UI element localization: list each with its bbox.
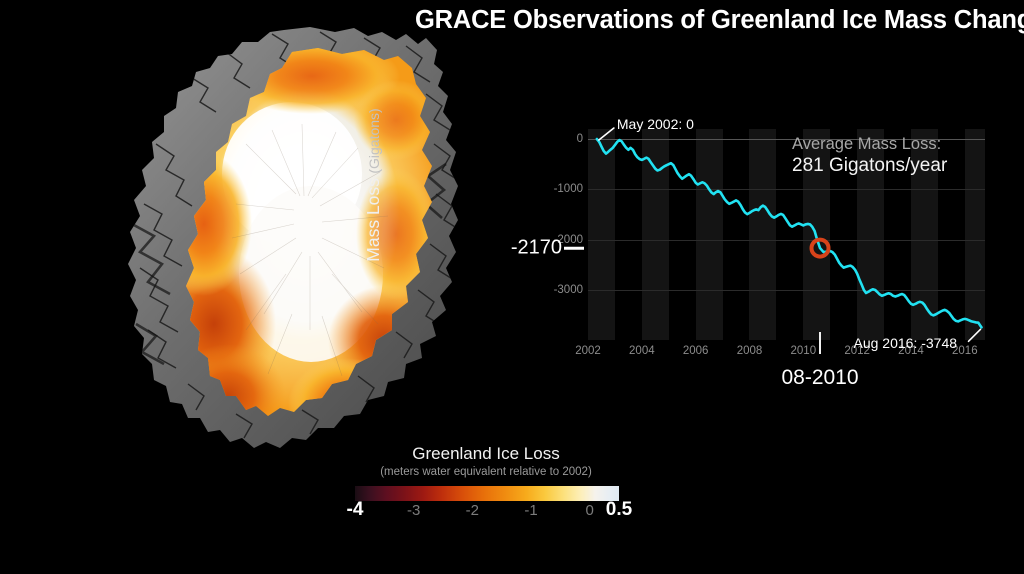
y-tick-label: -3000 <box>554 284 583 296</box>
legend-subtitle: (meters water equivalent relative to 200… <box>336 464 636 480</box>
average-mass-loss-value: 281 Gigatons/year <box>792 154 947 177</box>
x-tick-label: 2006 <box>683 345 709 357</box>
mass-loss-timeseries-chart: Mass Loss (Gigatons) 0-1000-2000-3000 20… <box>500 100 1024 390</box>
colorbar-gradient <box>355 486 619 501</box>
y-axis-title: Mass Loss (Gigatons) <box>363 80 383 290</box>
x-tick-label: 2010 <box>791 345 817 357</box>
colorbar-tick-label: -4 <box>333 499 377 521</box>
end-annotation-leader <box>969 329 981 341</box>
visualization-canvas: GRACE Observations of Greenland Ice Mass… <box>0 0 1024 574</box>
average-mass-loss-label: Average Mass Loss: <box>792 134 947 154</box>
y-axis-title-main: Mass Loss <box>363 178 383 262</box>
colorbar-tick-label: -1 <box>509 502 553 519</box>
current-time-label: 08-2010 <box>781 366 858 390</box>
x-tick-label: 2008 <box>737 345 763 357</box>
time-cursor <box>819 332 821 354</box>
y-tick-label: -1000 <box>554 183 583 195</box>
page-title: GRACE Observations of Greenland Ice Mass… <box>415 1 1024 39</box>
colorbar-legend: Greenland Ice Loss (meters water equival… <box>336 444 636 526</box>
greenland-map <box>96 24 486 456</box>
x-tick-label: 2004 <box>629 345 655 357</box>
current-value-label: -2170 <box>498 237 562 260</box>
x-tick-label: 2002 <box>575 345 601 357</box>
colorbar-tick-label: -3 <box>392 502 436 519</box>
current-value-dash <box>564 247 584 250</box>
legend-title: Greenland Ice Loss <box>336 444 636 464</box>
colorbar-tick-label: 0.5 <box>597 499 641 521</box>
y-axis-title-unit: (Gigatons) <box>366 108 382 173</box>
greenland-map-svg <box>96 24 486 456</box>
colorbar-tick-label: -2 <box>450 502 494 519</box>
average-mass-loss-block: Average Mass Loss: 281 Gigatons/year <box>792 134 947 177</box>
start-annotation-leader <box>599 128 614 140</box>
y-tick-label: 0 <box>577 133 583 145</box>
start-annotation-label: May 2002: 0 <box>617 116 694 132</box>
end-annotation-label: Aug 2016: -3748 <box>854 335 958 351</box>
